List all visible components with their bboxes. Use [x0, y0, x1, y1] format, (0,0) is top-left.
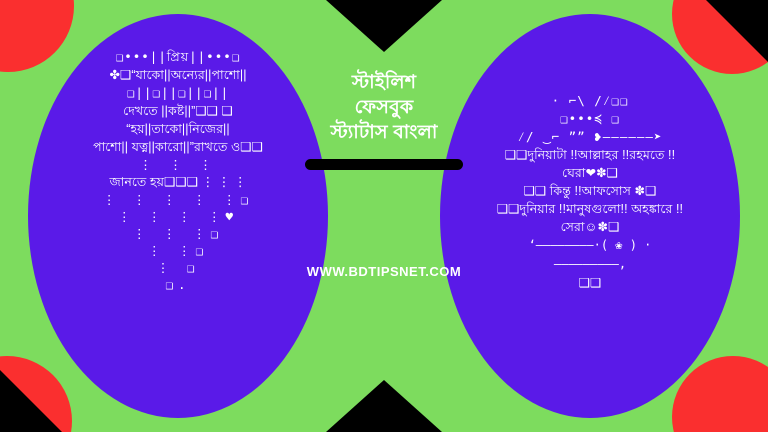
status-line: ❑❑দুনিয়াটা !!আল্লাহর !!রহমতে !! — [505, 146, 675, 164]
page-title-line-3: স্ট্যাটাস বাংলা — [330, 120, 437, 145]
status-card-right: · ⌐\ /⁄❑❑ ❑•••≼ ❑ ⁄/ ‿⌐ ”” ❥——————➤ ❑❑দু… — [440, 14, 740, 418]
status-line: ❑•••||প্রিয়||•••❑ — [116, 48, 241, 66]
status-line: পাশো|| যত্ন||কারো||”রাখতে ও❑❑ — [93, 138, 263, 156]
status-line: ‘————————·( ❀ ) · — [529, 236, 652, 255]
status-line: ❑❑ — [579, 274, 602, 292]
page-title: স্টাইলিশ ফেসবুক স্ট্যাটাস বাংলা — [330, 70, 437, 145]
status-line: ⋮ ⋮ ⋮❑ — [133, 225, 223, 242]
status-line: ❑. — [165, 276, 190, 293]
status-line: ⋮ ⋮ ⋮ ⋮ ⋮❑ — [103, 191, 253, 208]
status-text-right: · ⌐\ /⁄❑❑ ❑•••≼ ❑ ⁄/ ‿⌐ ”” ❥——————➤ ❑❑দু… — [440, 14, 740, 418]
status-line: ❑•••≼ ❑ — [560, 110, 620, 128]
center-column: স্টাইলিশ ফেসবুক স্ট্যাটাস বাংলা WWW.BDTI… — [289, 0, 479, 432]
status-line: · ⌐\ /⁄❑❑ — [552, 92, 629, 110]
status-line: ❑❑দুনিয়ার !!মানুষগুলো!! অহঙ্কারে !! — [497, 200, 683, 218]
status-line: ⋮ ❑ — [157, 259, 200, 276]
page-title-line-1: স্টাইলিশ — [330, 70, 437, 95]
status-line: “হয়||তাকো||নিজের|| — [126, 120, 230, 138]
status-text-left: ❑•••||প্রিয়||•••❑ ✤❑“যাকো||অন্যের||পাশো… — [28, 14, 328, 418]
poster-canvas: ❑•••||প্রিয়||•••❑ ✤❑“যাকো||অন্যের||পাশো… — [0, 0, 768, 432]
status-line: ⋮ ⋮ ⋮ — [139, 156, 217, 173]
status-line: ⋮ ⋮❑ — [148, 242, 208, 259]
status-line: ঘেরা❤✽❑ — [562, 164, 618, 182]
triangle-down-icon — [326, 0, 442, 52]
status-line: ⋮ ⋮ ⋮ ⋮♥ — [118, 208, 238, 225]
status-line: ❑||❑||❑||❑|| — [127, 84, 229, 102]
page-title-line-2: ফেসবুক — [330, 95, 437, 120]
status-line: দেখতে ||কষ্ট||”❑❑ ❑ — [123, 102, 233, 120]
status-line: সেরা☺✽❑ — [561, 218, 620, 236]
status-line: জানতে হয়❑❑❑ ⋮ ⋮ ⋮ — [109, 173, 246, 191]
status-card-left: ❑•••||প্রিয়||•••❑ ✤❑“যাকো||অন্যের||পাশো… — [28, 14, 328, 418]
triangle-up-icon — [326, 380, 442, 432]
title-divider-bar — [305, 159, 463, 170]
status-line: ✤❑“যাকো||অন্যের||পাশো|| — [109, 66, 246, 84]
site-url: WWW.BDTIPSNET.COM — [307, 264, 461, 279]
status-line: ❑❑ কিন্তু !!আফসোস ✽❑ — [524, 182, 657, 200]
status-line: —————————, — [554, 255, 626, 274]
status-line: ⁄/ ‿⌐ ”” ❥——————➤ — [518, 128, 663, 146]
